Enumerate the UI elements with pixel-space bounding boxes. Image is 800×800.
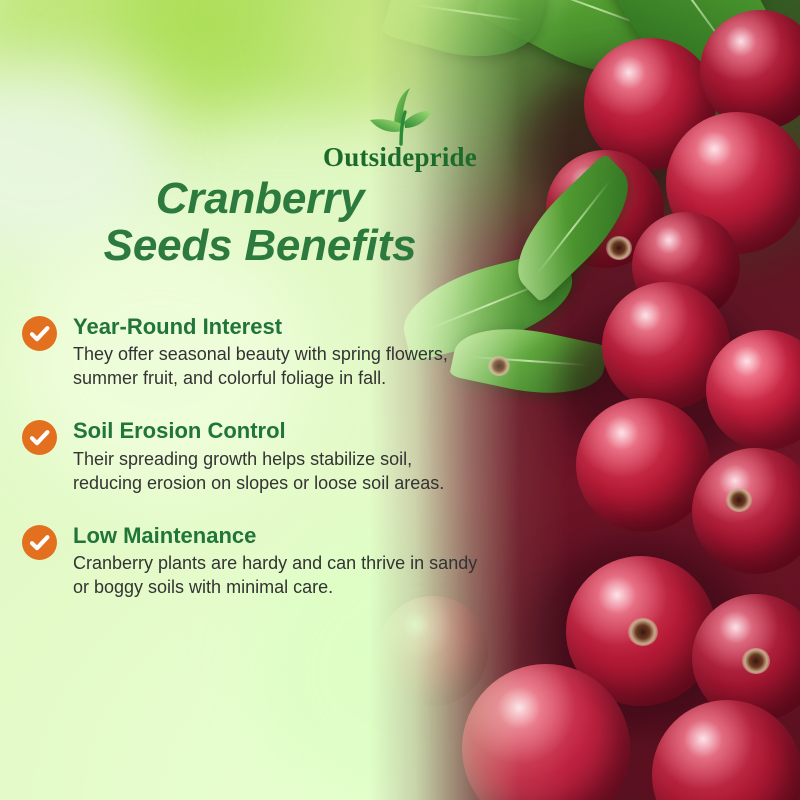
- check-circle-icon: [22, 420, 57, 455]
- benefit-item: Low Maintenance Cranberry plants are har…: [22, 523, 482, 600]
- benefit-description: Their spreading growth helps stabilize s…: [73, 448, 482, 496]
- check-circle-icon: [22, 316, 57, 351]
- cranberry: [576, 398, 710, 532]
- brand-logo[interactable]: Outsidepride: [0, 84, 800, 173]
- page-title: Cranberry Seeds Benefits: [0, 176, 520, 269]
- title-line-1: Cranberry: [0, 176, 520, 223]
- benefit-description: Cranberry plants are hardy and can thriv…: [73, 552, 482, 600]
- leaf-sprout-icon: [352, 84, 448, 146]
- cranberry-benefits-poster: Outsidepride Cranberry Seeds Benefits Ye…: [0, 0, 800, 800]
- benefits-list: Year-Round Interest They offer seasonal …: [22, 314, 482, 627]
- benefit-description: They offer seasonal beauty with spring f…: [73, 343, 482, 391]
- check-circle-icon: [22, 525, 57, 560]
- benefit-title: Low Maintenance: [73, 523, 482, 549]
- benefit-item: Year-Round Interest They offer seasonal …: [22, 314, 482, 391]
- title-line-2: Seeds Benefits: [0, 223, 520, 270]
- benefit-item: Soil Erosion Control Their spreading gro…: [22, 418, 482, 495]
- brand-wordmark: Outsidepride: [0, 142, 800, 173]
- benefit-title: Soil Erosion Control: [73, 418, 482, 444]
- benefit-title: Year-Round Interest: [73, 314, 482, 340]
